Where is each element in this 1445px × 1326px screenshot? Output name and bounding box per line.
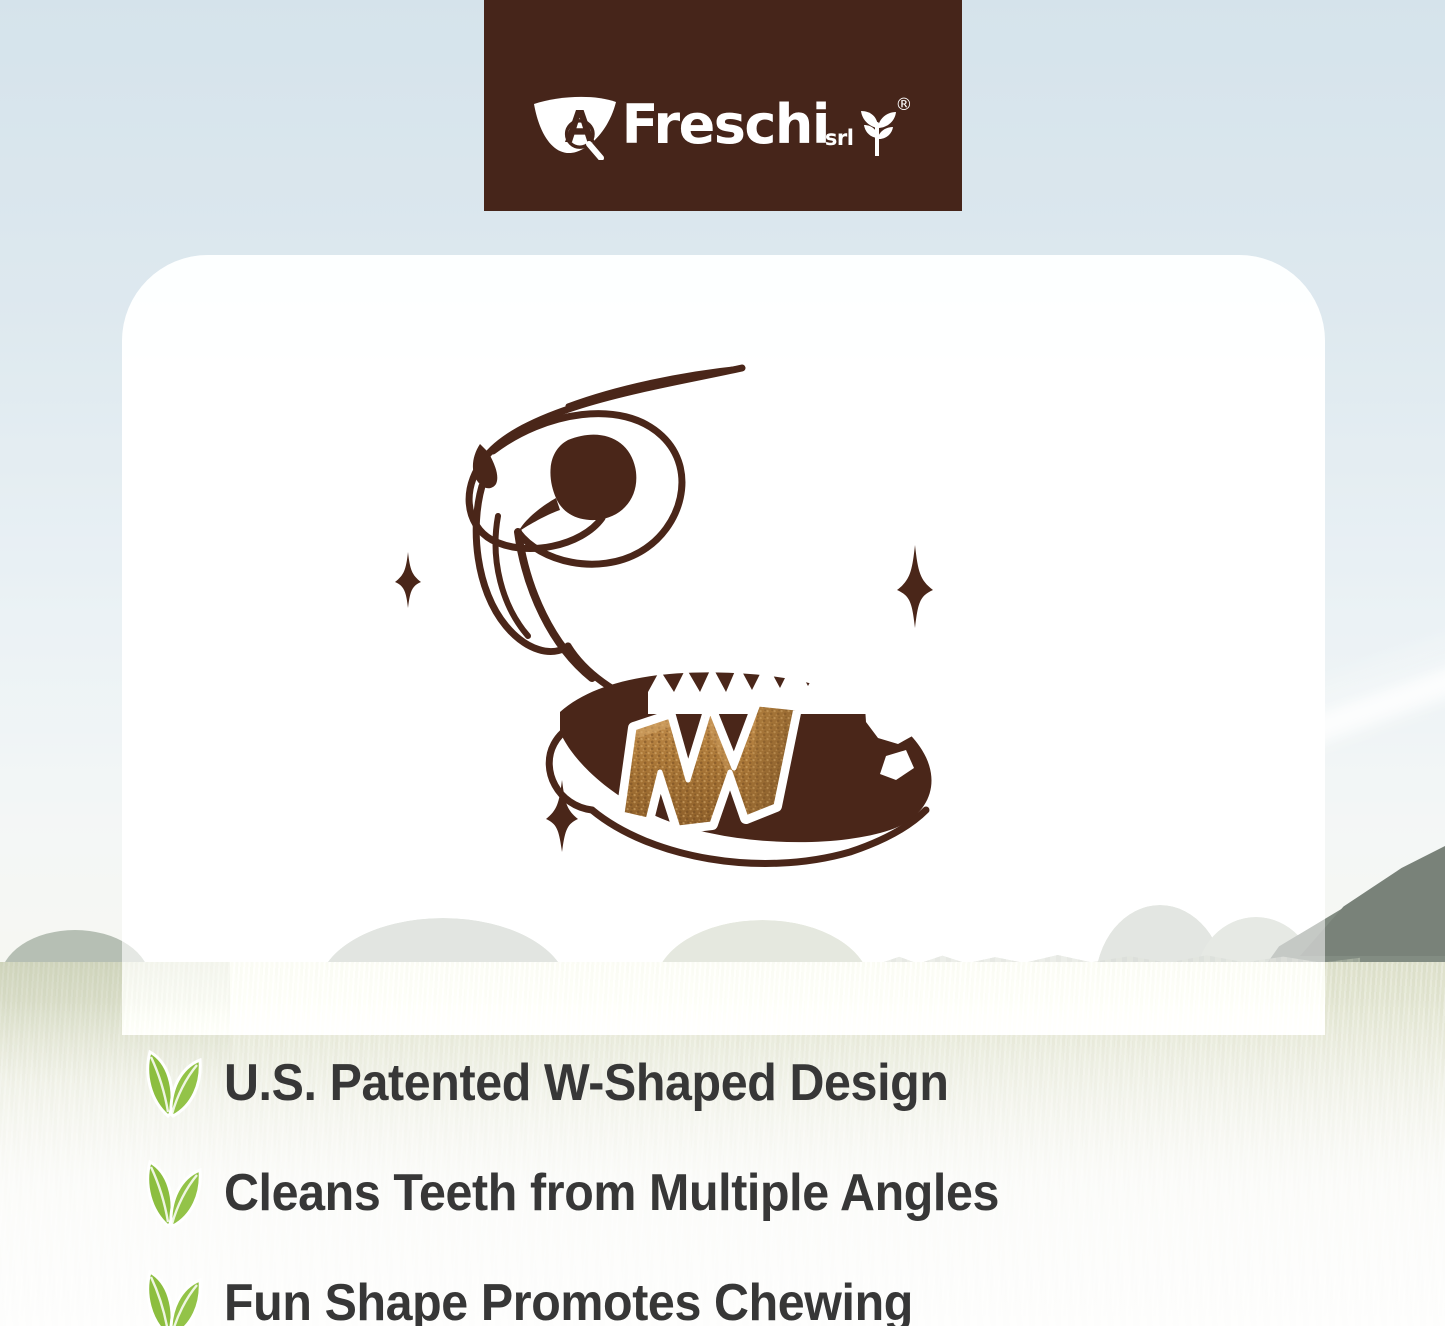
brand-logo: Freschi srl ® (532, 90, 915, 160)
feature-label: U.S. Patented W-Shaped Design (224, 1053, 948, 1113)
sprout-icon (857, 106, 897, 156)
green-leaf-icon (140, 1268, 202, 1326)
list-item: U.S. Patented W-Shaped Design (140, 1038, 1430, 1128)
green-leaf-icon (140, 1048, 202, 1118)
list-item: Fun Shape Promotes Chewing (140, 1258, 1430, 1326)
brand-name: Freschi (622, 98, 829, 152)
dog-head-chewing-icon (330, 340, 970, 920)
registered-trademark-symbol: ® (895, 95, 912, 115)
green-leaf-icon (140, 1158, 202, 1228)
list-item: Cleans Teeth from Multiple Angles (140, 1148, 1430, 1238)
feature-list: U.S. Patented W-Shaped Design Cleans Tee… (140, 1038, 1430, 1326)
brand-logo-bar: Freschi srl ® (484, 0, 962, 211)
feature-label: Cleans Teeth from Multiple Angles (224, 1163, 999, 1223)
brand-suffix: srl (825, 126, 854, 150)
product-feature-card: Freschi srl ® (0, 0, 1445, 1326)
feature-label: Fun Shape Promotes Chewing (224, 1273, 913, 1326)
leaf-magnifier-a-icon (532, 90, 620, 160)
